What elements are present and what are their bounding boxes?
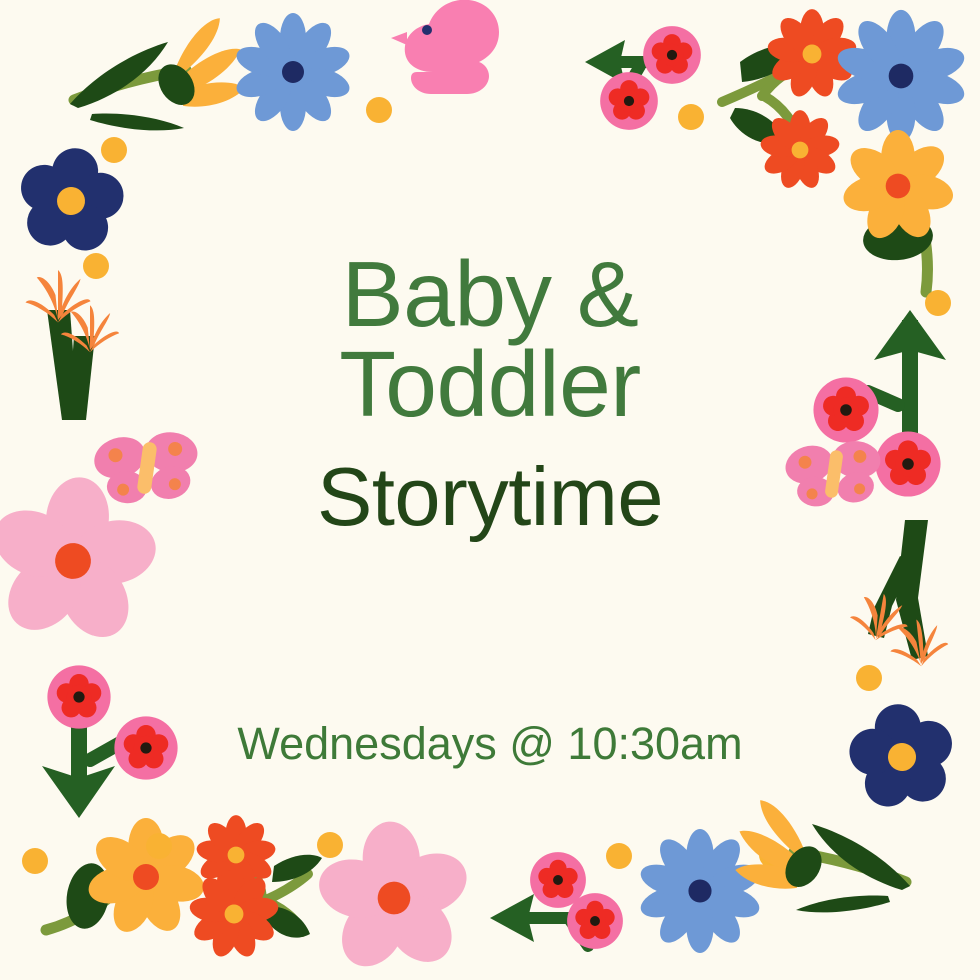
poster-text-block: Baby & Toddler Storytime Wednesdays @ 10… [0,0,980,980]
schedule-subtitle: Wednesdays @ 10:30am [0,718,980,770]
page-title-line-1: Baby & [0,246,980,342]
page-title-line-3: Storytime [0,452,980,542]
page-title-line-2: Toddler [0,336,980,432]
storytime-poster: Baby & Toddler Storytime Wednesdays @ 10… [0,0,980,980]
